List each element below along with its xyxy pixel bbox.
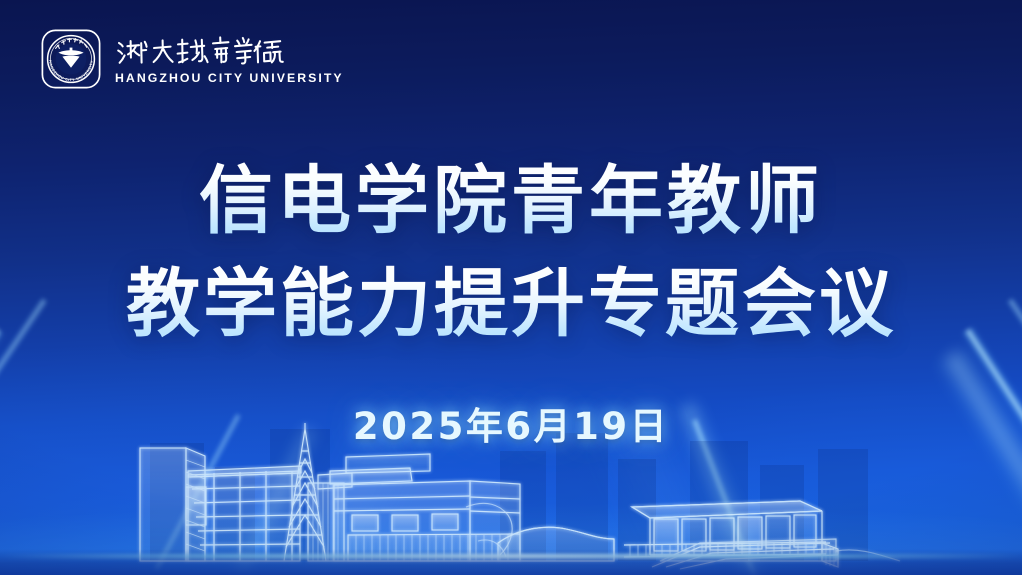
headline-line-2: 教学能力提升专题会议 <box>0 253 1022 356</box>
university-name-en: HANGZHOU CITY UNIVERSITY <box>115 71 344 85</box>
university-crest-icon: HANGZHOU CITY UNIVERSITY <box>40 28 102 90</box>
university-name-cn <box>115 34 344 68</box>
headline-line-1: 信电学院青年教师 <box>0 150 1022 253</box>
headline-block: 信电学院青年教师 教学能力提升专题会议 <box>0 150 1022 356</box>
event-date: 2025年6月19日 <box>0 396 1022 450</box>
university-name-block: HANGZHOU CITY UNIVERSITY <box>115 34 344 85</box>
university-logo: HANGZHOU CITY UNIVERSITY <box>40 28 344 90</box>
bottom-fade <box>0 549 1022 575</box>
conference-poster: HANGZHOU CITY UNIVERSITY <box>0 0 1022 575</box>
